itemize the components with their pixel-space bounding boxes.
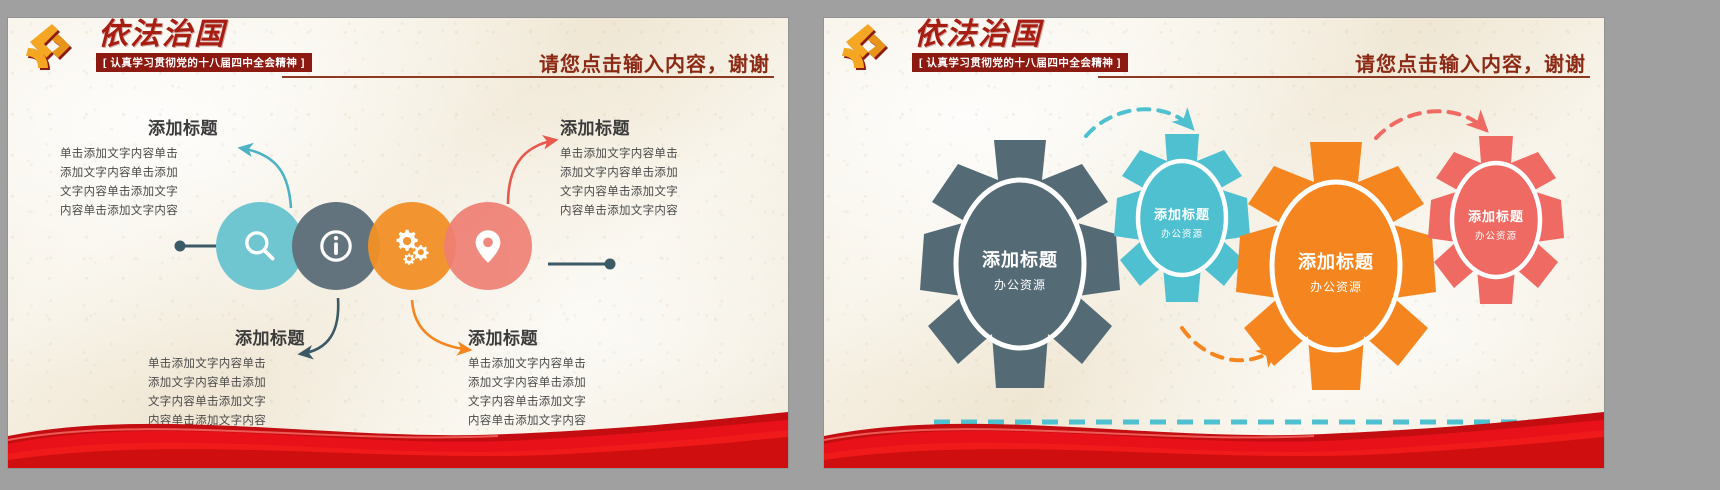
block-title: 添加标题 <box>60 114 282 139</box>
curved-arrow-red <box>508 140 556 204</box>
gear-1 <box>920 140 1120 388</box>
red-wave-decoration <box>8 390 788 468</box>
circle-gears[interactable] <box>368 202 456 290</box>
block-title: 添加标题 <box>148 324 370 349</box>
gears-icon <box>391 225 433 267</box>
brand-block: 依法治国 [ 认真学习贯彻党的十八届四中全会精神 ] <box>94 18 314 74</box>
brand-subtitle: [ 认真学习贯彻党的十八届四中全会精神 ] <box>96 53 312 72</box>
circle-info[interactable] <box>292 202 380 290</box>
block-top-left[interactable]: 添加标题 单击添加文字内容单击 添加文字内容单击添加 文字内容单击添加文字 内容… <box>60 114 282 221</box>
slide-right[interactable]: 依法治国 [ 认真学习贯彻党的十八届四中全会精神 ] 请您点击输入内容，谢谢 <box>824 18 1604 468</box>
curved-arrow-orange <box>412 300 470 350</box>
circle-pin[interactable] <box>444 202 532 290</box>
block-body: 单击添加文字内容单击 添加文字内容单击添加 文字内容单击添加文字 内容单击添加文… <box>560 145 782 221</box>
gear-3 <box>1236 142 1436 390</box>
slide-header-left: 依法治国 [ 认真学习贯彻党的十八届四中全会精神 ] 请您点击输入内容，谢谢 <box>8 18 788 80</box>
arrow-3-4 <box>1376 111 1486 138</box>
brand-title: 依法治国 <box>94 18 314 52</box>
block-body: 单击添加文字内容单击 添加文字内容单击添加 文字内容单击添加文字 内容单击添加文… <box>60 145 282 221</box>
info-icon <box>315 225 357 267</box>
connector-right-stub <box>548 259 616 270</box>
slide-gap <box>788 0 802 490</box>
party-emblem-icon <box>22 20 96 76</box>
red-wave-decoration <box>824 390 1604 468</box>
arrow-1-2 <box>1086 109 1192 136</box>
block-title: 添加标题 <box>468 324 690 349</box>
slide-left[interactable]: 依法治国 [ 认真学习贯彻党的十八届四中全会精神 ] 请您点击输入内容，谢谢 <box>8 18 788 468</box>
search-icon <box>239 225 281 267</box>
block-title: 添加标题 <box>560 114 782 139</box>
block-top-right[interactable]: 添加标题 单击添加文字内容单击 添加文字内容单击添加 文字内容单击添加文字 内容… <box>560 114 782 221</box>
slide-title-left: 请您点击输入内容，谢谢 <box>539 48 770 77</box>
gear-4 <box>1428 136 1564 304</box>
screenshot-stage: 依法治国 [ 认真学习贯彻党的十八届四中全会精神 ] 请您点击输入内容，谢谢 <box>0 0 1720 490</box>
gear-2 <box>1114 134 1250 302</box>
location-pin-icon <box>467 225 509 267</box>
